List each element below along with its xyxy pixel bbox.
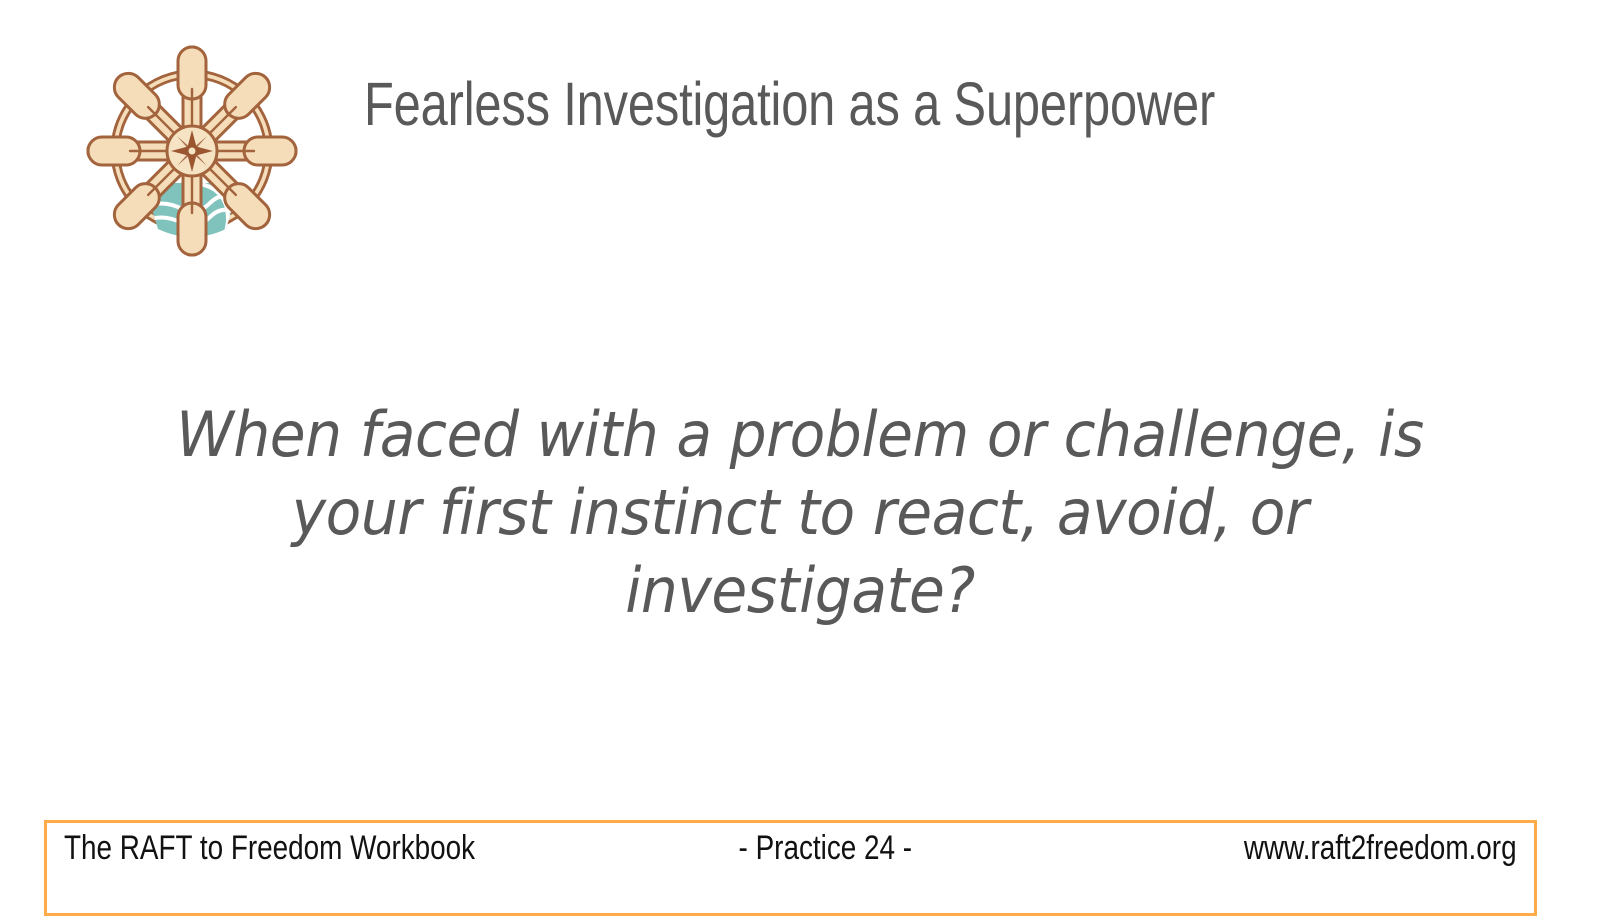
compass-rose-hub	[167, 126, 217, 176]
quote-block: When faced with a problem or challenge, …	[80, 396, 1520, 630]
footer: The RAFT to Freedom Workbook - Practice …	[44, 820, 1537, 876]
logo-artwork	[88, 47, 296, 255]
slide-header: Fearless Investigation as a Superpower	[0, 0, 1600, 300]
footer-practice-label: - Practice 24 -	[621, 829, 1129, 868]
footer-website-url: www.raft2freedom.org	[1244, 829, 1517, 868]
reflection-question-text: When faced with a problem or challenge, …	[123, 396, 1477, 630]
slide-canvas: Fearless Investigation as a Superpower W…	[0, 0, 1600, 900]
raft-to-freedom-wheel-logo	[76, 33, 308, 267]
page-title: Fearless Investigation as a Superpower	[364, 66, 1244, 142]
footer-workbook-title: The RAFT to Freedom Workbook	[64, 829, 475, 868]
